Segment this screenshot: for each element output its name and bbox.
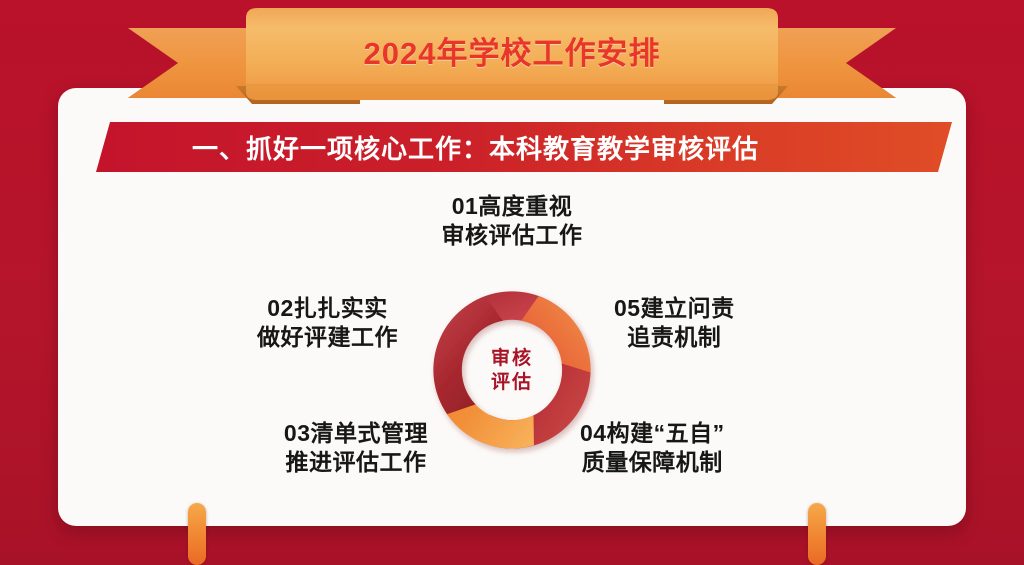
orange-peg-left: [188, 503, 206, 565]
petal-label-04-line2: 质量保障机制: [580, 448, 725, 477]
petal-label-01: 01高度重视 审核评估工作: [442, 192, 583, 250]
petal-label-03-line1: 03清单式管理: [284, 419, 428, 448]
petal-label-04-line1: 04构建“五自”: [580, 419, 725, 448]
petal-label-02-line2: 做好评建工作: [257, 323, 398, 352]
section-header-bar: 一、抓好一项核心工作：本科教育教学审核评估: [96, 122, 952, 172]
petal-label-04: 04构建“五自” 质量保障机制: [580, 419, 725, 477]
petal-label-02: 02扎扎实实 做好评建工作: [257, 294, 398, 352]
petal-label-03-line2: 推进评估工作: [284, 448, 428, 477]
petal-label-01-line1: 01高度重视: [442, 192, 583, 221]
petal-label-05-line1: 05建立问责: [614, 294, 735, 323]
petal-label-01-line2: 审核评估工作: [442, 221, 583, 250]
petal-label-05: 05建立问责 追责机制: [614, 294, 735, 352]
slide-canvas: 2024年学校工作安排 一、抓好一项核心工作：本科教育教学审核评估: [0, 0, 1024, 565]
ribbon-title: 2024年学校工作安排: [0, 0, 1024, 100]
petal-label-05-line2: 追责机制: [614, 323, 735, 352]
section-header-text: 一、抓好一项核心工作：本科教育教学审核评估: [192, 129, 759, 166]
petal-label-02-line1: 02扎扎实实: [257, 294, 398, 323]
orange-peg-right: [808, 503, 826, 565]
petal-label-03: 03清单式管理 推进评估工作: [284, 419, 428, 477]
